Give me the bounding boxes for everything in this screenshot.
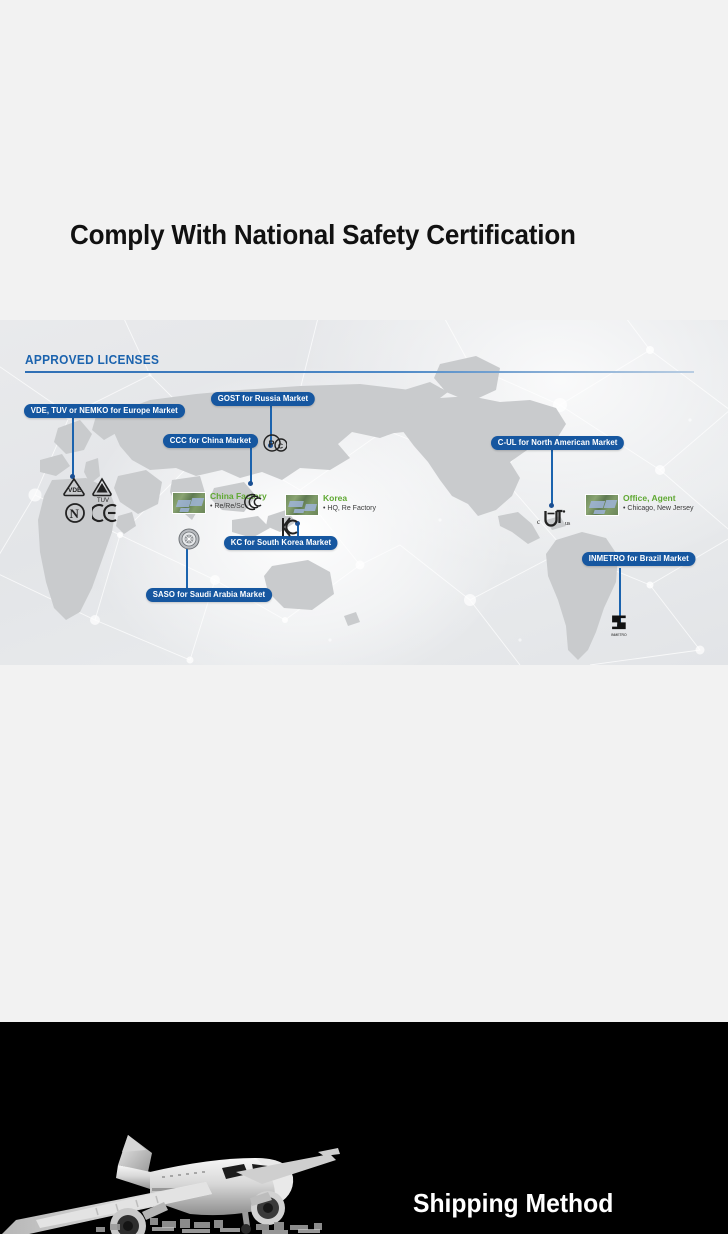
approved-licenses-map-panel: APPROVED LICENSES VDE, TUV or NEMKO for … [0, 320, 728, 665]
shipping-method-title: Shipping Method [413, 1188, 613, 1219]
svg-text:us: us [565, 521, 571, 527]
callout-pill-saudi-arabia[interactable]: SASO for Saudi Arabia Market [146, 588, 272, 602]
svg-text:c: c [537, 518, 540, 526]
title-band: Comply With National Safety Certificatio… [0, 0, 728, 320]
callout-pill-europe[interactable]: VDE, TUV or NEMKO for Europe Market [24, 404, 185, 418]
china-factory-photo [172, 492, 206, 514]
callout-pill-china[interactable]: CCC for China Market [163, 434, 258, 448]
cul-certification-icon: c us [537, 508, 573, 533]
inmetro-certification-icon: INMETRO [607, 613, 631, 642]
ccc-certification-icon [238, 492, 264, 517]
kc-certification-icon [281, 516, 299, 543]
korea-site-detail: • HQ, Re Factory [323, 505, 376, 512]
leader-line-europe [72, 418, 74, 476]
leader-line-namerica [551, 448, 553, 506]
leader-line-china [250, 448, 252, 484]
office-agent-name: Office, Agent [623, 493, 676, 503]
office-agent-detail: • Chicago, New Jersey [623, 505, 694, 512]
shipping-method-band: Shipping Method [0, 1022, 728, 1234]
map-dot-china [248, 481, 253, 486]
svg-text:N: N [70, 506, 80, 521]
svg-text:P: P [269, 439, 275, 449]
callout-pill-brazil[interactable]: INMETRO for Brazil Market [582, 552, 696, 566]
airplane-photo [0, 1022, 728, 1234]
korea-site-name: Korea [323, 493, 347, 503]
heading-divider [25, 371, 694, 373]
svg-text:C: C [278, 444, 283, 451]
vde-certification-icon: VDE [62, 476, 86, 503]
pct-certification-icon: P C [263, 433, 287, 458]
license-list-band: SASO for Saudi Arabia Market C-UL for No… [0, 665, 728, 1022]
callout-pill-russia[interactable]: GOST for Russia Market [211, 392, 315, 406]
office-agent-photo [585, 494, 619, 516]
saso-certification-icon [178, 528, 200, 555]
nemko-certification-icon: N [64, 502, 86, 529]
ce-certification-icon [92, 503, 120, 528]
approved-licenses-heading: APPROVED LICENSES [25, 353, 159, 367]
page-title: Comply With National Safety Certificatio… [70, 219, 576, 251]
korea-site-photo [285, 494, 319, 516]
product-detail-page: Comply With National Safety Certificatio… [0, 0, 728, 1234]
svg-text:VDE: VDE [68, 487, 82, 494]
callout-pill-north-america[interactable]: C-UL for North American Market [491, 436, 624, 450]
svg-text:INMETRO: INMETRO [611, 633, 627, 637]
